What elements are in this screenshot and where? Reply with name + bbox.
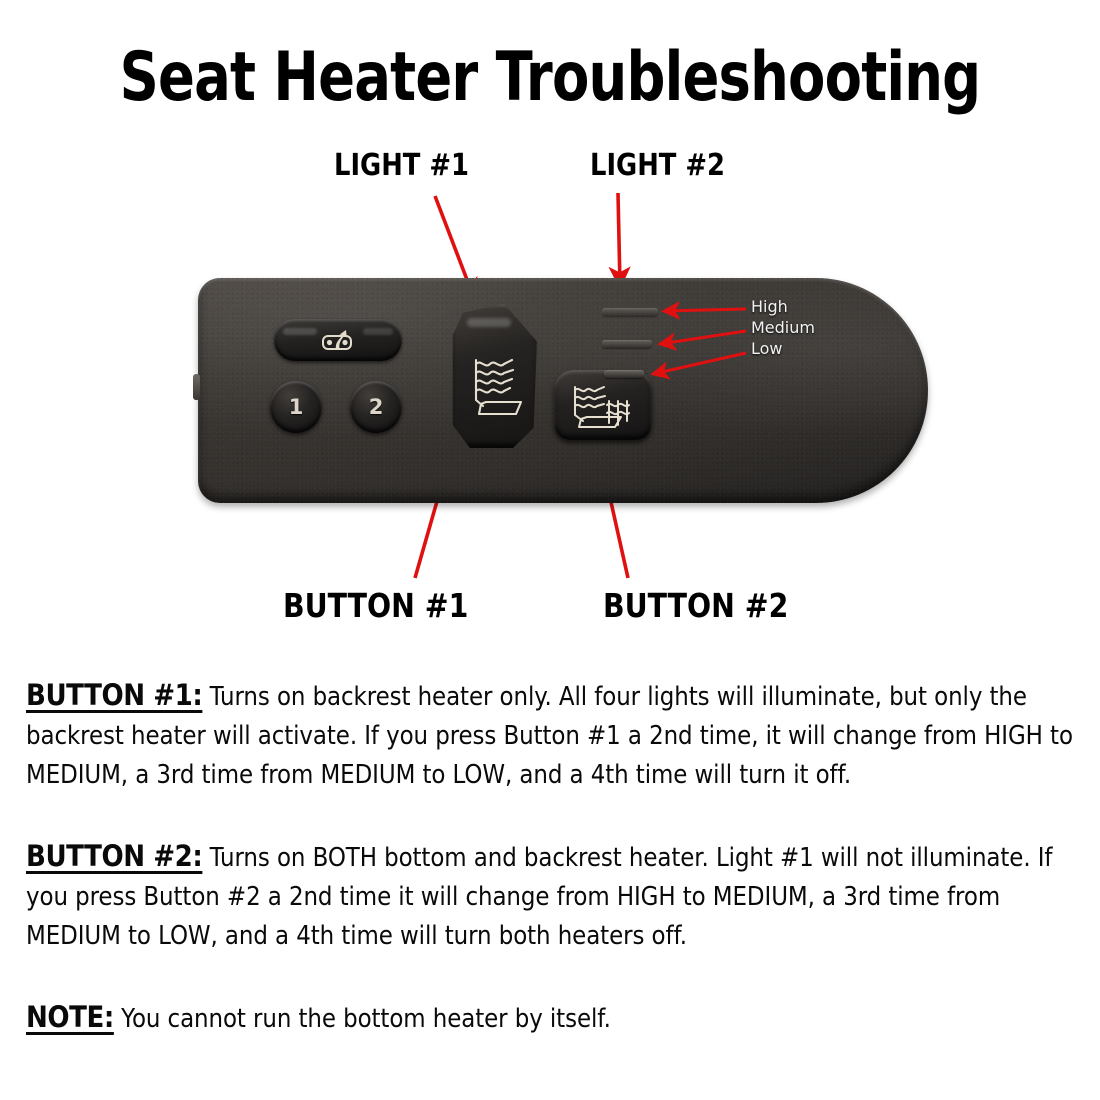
callout-label-button-2: BUTTON #2: [603, 588, 788, 623]
memory-button-1[interactable]: 1: [270, 381, 322, 433]
panel-body: 1 2: [198, 278, 928, 503]
level-label-low: Low: [751, 340, 783, 358]
seat-heater-control-panel: 1 2: [198, 278, 928, 503]
instruction-paragraph-button-2: BUTTON #2: Turns on BOTH bottom and back…: [26, 837, 1077, 956]
level-label-high: High: [751, 298, 788, 316]
panel-side-tab: [193, 374, 200, 400]
callout-label-button-1: BUTTON #1: [283, 588, 468, 623]
arrow-light-2: [618, 193, 620, 286]
led-bar-high: [602, 308, 658, 316]
instruction-body-note: You cannot run the bottom heater by itse…: [114, 1004, 611, 1034]
instruction-paragraph-button-1: BUTTON #1: Turns on backrest heater only…: [26, 676, 1077, 795]
instruction-lead-button-1: BUTTON #1:: [26, 678, 202, 712]
callout-label-light-2: LIGHT #2: [590, 150, 725, 182]
instruction-paragraph-note: NOTE: You cannot run the bottom heater b…: [26, 998, 1077, 1039]
level-label-medium: Medium: [751, 319, 815, 337]
heater-button-2[interactable]: [554, 370, 652, 440]
memory-set-button[interactable]: [274, 319, 402, 361]
memory-button-1-label: 1: [289, 395, 304, 419]
page-title: Seat Heater Troubleshooting: [110, 42, 990, 114]
led-bar-medium: [602, 340, 652, 348]
full-seat-heater-icon: [563, 379, 643, 431]
backrest-heater-seat-icon: [459, 342, 529, 430]
memory-button-2-label: 2: [369, 395, 384, 419]
instruction-lead-button-2: BUTTON #2:: [26, 839, 202, 873]
instruction-lead-note: NOTE:: [26, 1000, 114, 1034]
led-bar-low: [604, 370, 644, 378]
heater-button-1-gloss: [467, 318, 511, 327]
memory-button-2[interactable]: 2: [350, 381, 402, 433]
instructions-block: BUTTON #1: Turns on backrest heater only…: [26, 676, 1078, 1039]
callout-label-light-1: LIGHT #1: [334, 150, 469, 182]
seat-memory-icon: [315, 327, 361, 353]
panel-lip-highlight: [326, 508, 764, 512]
